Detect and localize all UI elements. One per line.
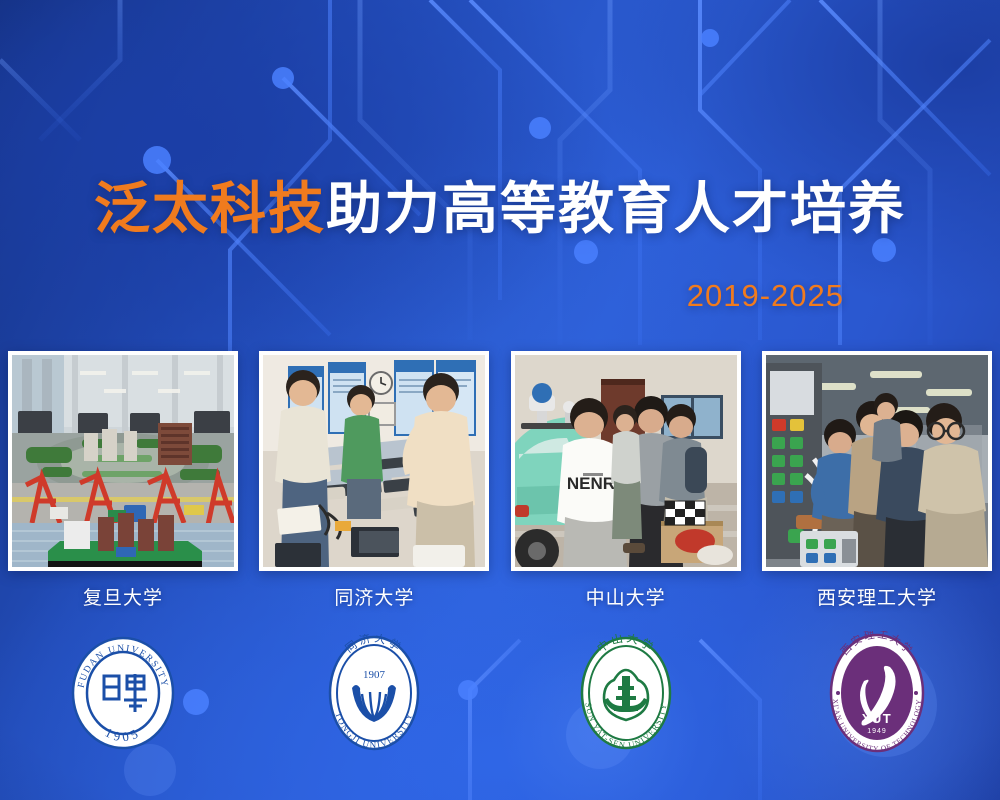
photo-card-sysu: NENR xyxy=(511,351,741,571)
photo-sysu-autonomous-vehicle: NENR xyxy=(515,355,737,567)
logo-cell-fudan: FUDAN UNIVERSITY 1905 xyxy=(8,628,238,758)
subtitle-year-range: 2019-2025 xyxy=(687,278,844,314)
title-block: 泛太科技助力高等教育人才培养 xyxy=(0,176,1000,242)
photo-card-tongji xyxy=(259,351,489,571)
svg-text:1949: 1949 xyxy=(867,728,887,735)
xian-university-of-technology-seal-icon: 西安理工大学 XI'AN UNIVERSITY OF TECHNOLOGY XU… xyxy=(818,631,936,755)
photo-card-xut xyxy=(762,351,992,571)
svg-text:1907: 1907 xyxy=(363,669,386,681)
sun-yat-sen-university-seal-icon: 中山大学 SUN YAT-SEN UNIVERSITY xyxy=(570,634,682,752)
svg-text:NENR: NENR xyxy=(567,474,615,493)
logo-cell-xut: 西安理工大学 XI'AN UNIVERSITY OF TECHNOLOGY XU… xyxy=(762,628,992,758)
title-brand-text: 泛太科技 xyxy=(94,177,326,240)
caption-tongji: 同济大学 xyxy=(259,583,489,613)
logo-cell-sysu: 中山大学 SUN YAT-SEN UNIVERSITY xyxy=(511,628,741,758)
photo-tongji-lab-equipment xyxy=(263,355,485,567)
page-title: 泛太科技助力高等教育人才培养 xyxy=(0,176,1000,242)
title-rest-text: 助力高等教育人才培养 xyxy=(326,177,906,240)
logo-row: FUDAN UNIVERSITY 1905 xyxy=(0,628,1000,758)
promo-slide: 泛太科技助力高等教育人才培养 2019-2025 xyxy=(0,0,1000,800)
fudan-university-seal-icon: FUDAN UNIVERSITY 1905 xyxy=(67,634,179,752)
logo-cell-tongji: 同济大学 TONGJI UNIVERSITY 1907 xyxy=(259,628,489,758)
caption-row: 复旦大学 同济大学 中山大学 西安理工大学 xyxy=(0,583,1000,613)
photo-fudan-port-model xyxy=(12,355,234,567)
caption-fudan: 复旦大学 xyxy=(8,583,238,613)
photo-xut-industrial-line xyxy=(766,355,988,567)
photo-card-fudan xyxy=(8,351,238,571)
photo-gallery-row: NENR xyxy=(0,351,1000,571)
svg-text:XUT: XUT xyxy=(862,711,893,726)
tongji-university-seal-icon: 同济大学 TONGJI UNIVERSITY 1907 xyxy=(318,634,430,752)
caption-sysu: 中山大学 xyxy=(511,583,741,613)
caption-xut: 西安理工大学 xyxy=(762,583,992,613)
